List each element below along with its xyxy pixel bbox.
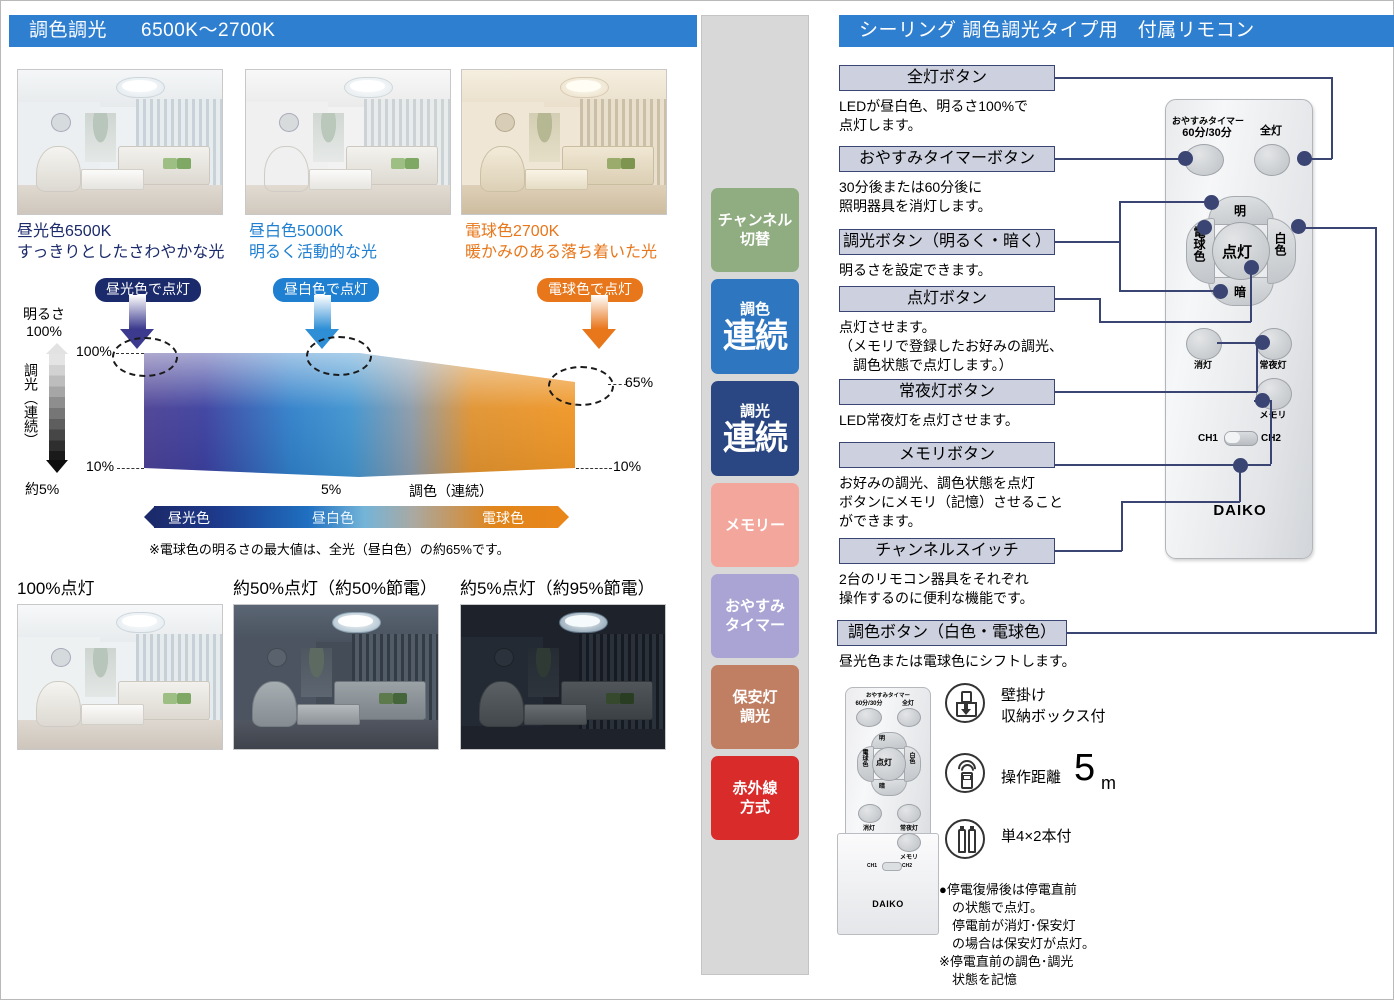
color-axis-label: 調色（連続） [409,481,493,501]
badge-dim-continuous: 調光 連続 [711,381,799,476]
photo-dim-100 [17,604,223,750]
power-on-label: 点灯 [1222,241,1252,262]
badge-infrared-line2: 方式 [740,798,770,817]
badge-infrared-line1: 赤外線 [732,779,777,798]
accessory-range-text: 操作距離 [1001,767,1061,788]
signal-icon [945,753,985,793]
callout-full-light: 全灯ボタン [839,65,1055,91]
lead-full-light-2 [1331,77,1333,159]
pad-up-label: 明 [1234,202,1246,219]
marker-warm [548,366,614,406]
small-remote-full-button [897,708,921,727]
control-pad: 明 暗 電球色 白色 点灯 [1186,196,1294,304]
lead-night-3 [1217,342,1257,344]
full-light-label: 全灯 [1248,126,1294,137]
small-remote-sleep-button [856,708,882,727]
small-remote-memory-button [897,833,921,852]
small-remote-sleep-value: 60分/30分 [849,698,889,708]
small-remote-channel-switch [882,862,902,871]
small-remote-night-label: 常夜灯 [893,823,925,832]
marker-neutral [306,336,372,376]
badge-infrared: 赤外線 方式 [711,756,799,840]
badge-sleep-timer: おやすみ タイマー [711,574,799,658]
right-header-bar: シーリング 調色調光タイプ用 付属リモコン [839,15,1394,47]
badge-dim-big: 連続 [723,421,787,455]
sleep-timer-value: 60分/30分 [1172,128,1242,139]
small-remote-off-label: 消灯 [854,823,884,832]
desc-memory: お好みの調光、調色状態を点灯 ボタンにメモリ（記憶）させること ができます。 [839,474,1063,531]
pad-down-label: 暗 [1234,283,1246,300]
ann-10-leader [576,468,612,469]
chart-footnote: ※電球色の明るさの最大値は、全光（昼白色）の約65%です。 [149,539,510,558]
wallbox-brand: DAIKO [837,899,939,909]
memory-label: メモリ [1252,410,1294,421]
photo-neutral [245,69,451,215]
dim-caption-50: 約50%点灯（約50%節電） [233,578,437,599]
dim-caption-100: 100%点灯 [17,578,94,599]
lead-colortune-1 [1054,632,1377,634]
channel-switch-knob[interactable] [1225,432,1240,443]
small-remote-off-button [858,804,882,823]
lead-colortune-2 [1375,227,1377,633]
badge-sleep-line1: おやすみ [725,597,785,616]
small-remote-ch1: CH1 [867,863,881,869]
badge-channel-line2: 切替 [740,230,770,249]
pad-right-label: 白色 [1274,232,1286,256]
ann-65: 65% [625,374,653,390]
lead-dim-2 [1119,201,1121,291]
small-pad-center-label: 点灯 [876,757,892,768]
ann-10: 10% [613,458,641,474]
small-remote-pad: 明 暗 電球色 白色 点灯 [857,732,919,794]
lead-colortune-3 [1298,227,1376,229]
accessory-wall-mount-text: 壁掛け 収納ボックス付 [1001,685,1106,727]
lead-power-2 [1099,298,1101,322]
lead-power-1 [1054,298,1100,300]
badge-color-continuous: 調色 連続 [711,279,799,374]
desc-sleep-timer: 30分後または60分後に 照明器具を消灯します。 [839,178,992,216]
badge-safety-line2: 調光 [740,707,770,726]
small-pad-up-label: 明 [879,733,885,742]
lead-channel-3 [1121,501,1240,503]
lead-full-light-3 [1305,158,1332,160]
accessory-range-unit: m [1101,773,1116,794]
light-off-label: 消灯 [1184,360,1222,371]
remote-brand: DAIKO [1166,505,1314,516]
full-light-button[interactable] [1254,144,1290,176]
badge-color-big: 連続 [723,319,787,353]
small-pad-right-label: 白色 [907,752,914,764]
lead-power-3 [1099,321,1251,323]
ch1-label: CH1 [1196,433,1220,444]
accessory-battery-text: 単4×2本付 [1001,826,1071,847]
lead-memory-2 [1270,400,1272,464]
power-outage-notes: ●停電復帰後は停電直前 の状態で点灯。 停電前が消灯･保安灯 の場合は保安灯が点… [939,881,1095,989]
desc-color-tune: 昼光色または電球色にシフトします。 [839,652,1076,671]
small-remote-memory-label: メモリ [893,852,925,861]
lead-memory-3 [1254,400,1271,402]
desc-night-light: LED常夜灯を点灯させます。 [839,411,1019,430]
lead-channel-1 [1054,550,1122,552]
callout-channel-switch: チャンネルスイッチ [839,538,1055,564]
photo-dim-50 [233,604,439,750]
remote-in-wallbox: おやすみタイマー 60分/30分 全灯 明 暗 電球色 白色 点灯 消灯 常夜灯… [837,687,939,935]
small-remote-ch2: CH2 [902,863,916,869]
badge-memory: メモリー [711,483,799,567]
lead-dim-3 [1119,201,1211,203]
lead-night-2 [1256,342,1258,392]
lead-channel-4 [1239,466,1241,502]
wallbox-body [837,833,939,935]
photo-warm [461,69,667,215]
callout-dimming: 調光ボタン（明るく・暗く） [839,229,1055,255]
photo-daylight-title: 昼光色6500K [17,221,111,242]
lead-channel-2 [1121,501,1123,551]
bar-label-warm: 電球色 [482,508,524,528]
desc-channel-switch: 2台のリモコン器具をそれぞれ 操作するのに便利な機能です。 [839,570,1034,608]
lead-night-1 [1054,391,1257,393]
anchor-warm-side [1197,220,1212,235]
battery-icon [945,819,985,859]
callout-power-on: 点灯ボタン [839,286,1055,312]
photo-daylight-subtitle: すっきりとしたさわやかな光 [17,242,224,263]
marker-daylight [112,337,178,377]
photo-warm-subtitle: 暖かみのある落ち着いた光 [465,242,657,263]
badge-safety-line1: 保安灯 [732,688,777,707]
spec-sheet-page: 調色調光6500K～2700K 昼光色6500K すっきりとしたさわや [0,0,1394,1000]
photo-neutral-title: 昼白色5000K [249,221,343,242]
lead-power-4 [1250,267,1252,322]
light-off-button[interactable] [1186,328,1222,360]
color-temperature-bar: 昼光色 昼白色 電球色 [144,506,569,528]
wall-mount-icon [945,683,985,723]
badge-channel: チャンネル 切替 [711,188,799,272]
callout-color-tune: 調色ボタン（白色・電球色） [837,620,1067,646]
small-pad-down-label: 暗 [879,781,885,790]
dim-caption-5: 約5%点灯（約95%節電） [460,578,655,599]
lead-dim-4 [1119,290,1220,292]
callout-night-light: 常夜灯ボタン [839,379,1055,405]
lead-sleep-timer [1054,158,1186,160]
lead-dim-1 [1054,241,1120,243]
dimming-color-range-chart: 明るさ 100% 調光（連続） 約5% 100% 10% [9,301,677,551]
accessory-range-value: 5 [1074,749,1095,787]
bar-right-cap-icon [558,506,569,528]
small-pad-left-label: 電球色 [860,749,867,767]
photo-dim-5 [460,604,666,750]
bar-label-daylight: 昼光色 [168,508,210,528]
desc-dimming: 明るさを設定できます。 [839,261,992,280]
feature-badge-column: チャンネル 切替 調色 連続 調光 連続 メモリー おやすみ タイマー 保安灯 … [701,15,809,975]
photo-warm-title: 電球色2700K [465,221,559,242]
desc-power-on: 点灯させます。 （メモリで登録したお好みの調光、 調色状態で点灯します。） [839,318,1063,375]
bar-label-neutral: 昼白色 [312,508,354,528]
small-remote-night-button [897,804,921,823]
small-pad-down [871,779,907,796]
badge-memory-line1: メモリー [725,516,785,535]
small-remote-full-label: 全灯 [890,698,926,708]
photo-daylight [17,69,223,215]
badge-safety-light: 保安灯 調光 [711,665,799,749]
badge-channel-line1: チャンネル [718,211,793,230]
lead-full-light-1 [1054,77,1332,79]
photo-neutral-subtitle: 明るく活動的な光 [249,242,377,263]
sleep-timer-label: おやすみタイマー [1172,116,1242,127]
badge-sleep-line2: タイマー [725,616,785,635]
callout-memory: メモリボタン [839,442,1055,468]
callout-sleep-timer: おやすみタイマーボタン [839,146,1055,172]
ann-5: 5% [321,481,341,497]
desc-full-light: LEDが昼白色、明るさ100%で 点灯します。 [839,97,1028,135]
